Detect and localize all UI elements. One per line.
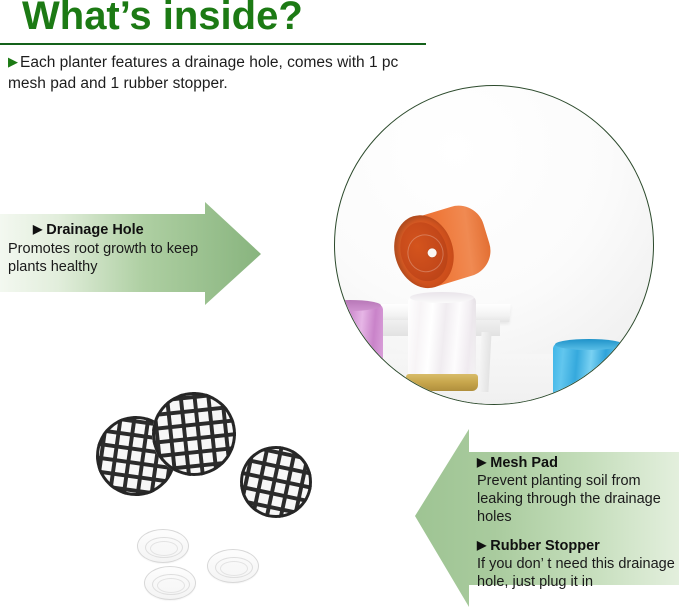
mesh-pad-item bbox=[240, 446, 312, 518]
bullet-triangle-icon: ▶ bbox=[8, 54, 18, 69]
blue-planter-body bbox=[553, 343, 625, 405]
blue-planter bbox=[553, 343, 625, 405]
mesh-rim bbox=[152, 392, 236, 476]
purple-planter-gold-base bbox=[334, 374, 385, 391]
rubber-stopper-heading: ▶Rubber Stopper bbox=[469, 538, 679, 554]
mesh-pad-item bbox=[152, 392, 236, 476]
page-title: What’s inside? bbox=[22, 0, 303, 39]
mesh-pad-body: Prevent planting soil from leaking throu… bbox=[469, 471, 679, 526]
white-planter bbox=[408, 296, 476, 378]
drainage-hole-heading: ▶Drainage Hole bbox=[0, 222, 200, 238]
rubber-stopper-item bbox=[144, 566, 196, 600]
rubber-stopper-item bbox=[207, 549, 259, 583]
mesh-pad-callout: ▶Mesh Pad Prevent planting soil from lea… bbox=[469, 455, 679, 526]
rubber-stopper-heading-text: Rubber Stopper bbox=[490, 538, 600, 554]
bullet-triangle-icon: ▶ bbox=[477, 538, 486, 552]
mesh-pad-heading: ▶Mesh Pad bbox=[469, 455, 679, 471]
bullet-triangle-icon: ▶ bbox=[477, 455, 486, 469]
mesh-rim bbox=[240, 446, 312, 518]
intro-bullet: ▶Each planter features a drainage hole, … bbox=[8, 52, 438, 94]
rubber-stopper-item bbox=[137, 529, 189, 563]
drainage-hole-body: Promotes root growth to keep plants heal… bbox=[0, 238, 200, 276]
drainage-hole-heading-text: Drainage Hole bbox=[46, 222, 144, 238]
drainage-hole-callout: ▶Drainage Hole Promotes root growth to k… bbox=[0, 222, 200, 276]
white-planter-body bbox=[408, 296, 476, 378]
parts-callout-text: ▶Mesh Pad Prevent planting soil from lea… bbox=[469, 455, 679, 591]
purple-planter-body bbox=[334, 304, 383, 378]
mesh-pad-heading-text: Mesh Pad bbox=[490, 455, 558, 471]
rubber-stopper-callout: ▶Rubber Stopper If you don’ t need this … bbox=[469, 538, 679, 591]
intro-text: Each planter features a drainage hole, c… bbox=[8, 54, 398, 92]
title-divider bbox=[0, 43, 426, 45]
infographic-page: What’s inside? ▶Each planter features a … bbox=[0, 0, 679, 611]
bullet-triangle-icon: ▶ bbox=[33, 222, 42, 236]
product-photo-circle bbox=[334, 85, 654, 405]
purple-planter bbox=[334, 304, 383, 378]
orange-planter-tilted bbox=[385, 197, 500, 302]
white-planter-gold-base bbox=[406, 374, 478, 391]
rubber-stopper-body: If you don’ t need this drainage hole, j… bbox=[469, 554, 679, 591]
blue-planter-rim bbox=[555, 339, 623, 350]
